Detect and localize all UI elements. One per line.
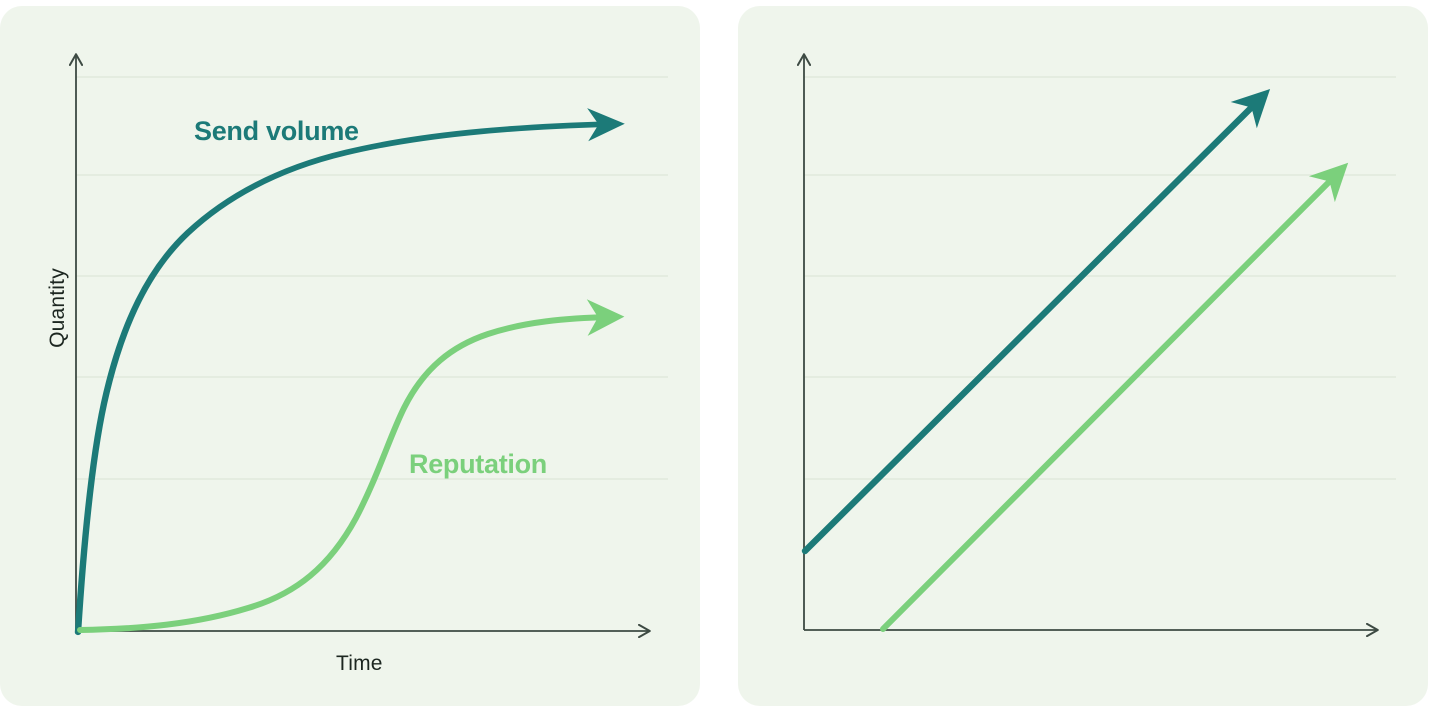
axis-lines <box>804 56 1376 630</box>
series-line-reputation <box>883 173 1338 629</box>
x-axis-label: Time <box>336 652 383 676</box>
axis-lines <box>76 56 648 631</box>
y-axis-label: Quantity <box>46 263 70 353</box>
gridlines <box>804 77 1396 479</box>
series-line-send-volume <box>78 124 612 632</box>
gridlines <box>76 77 668 479</box>
series-line-send-volume <box>805 98 1261 551</box>
plot-area-linear <box>738 6 1428 706</box>
series-label-reputation: Reputation <box>409 449 547 480</box>
series-label-send-volume: Send volume <box>194 116 359 147</box>
chart-panel-linear: Send volume Reputation Time Quantity <box>738 6 1428 706</box>
chart-stage: Send volume Reputation Time Quantity <box>0 0 1440 720</box>
plot-area-organic <box>0 6 700 706</box>
chart-panel-organic: Send volume Reputation Time Quantity <box>0 6 700 706</box>
